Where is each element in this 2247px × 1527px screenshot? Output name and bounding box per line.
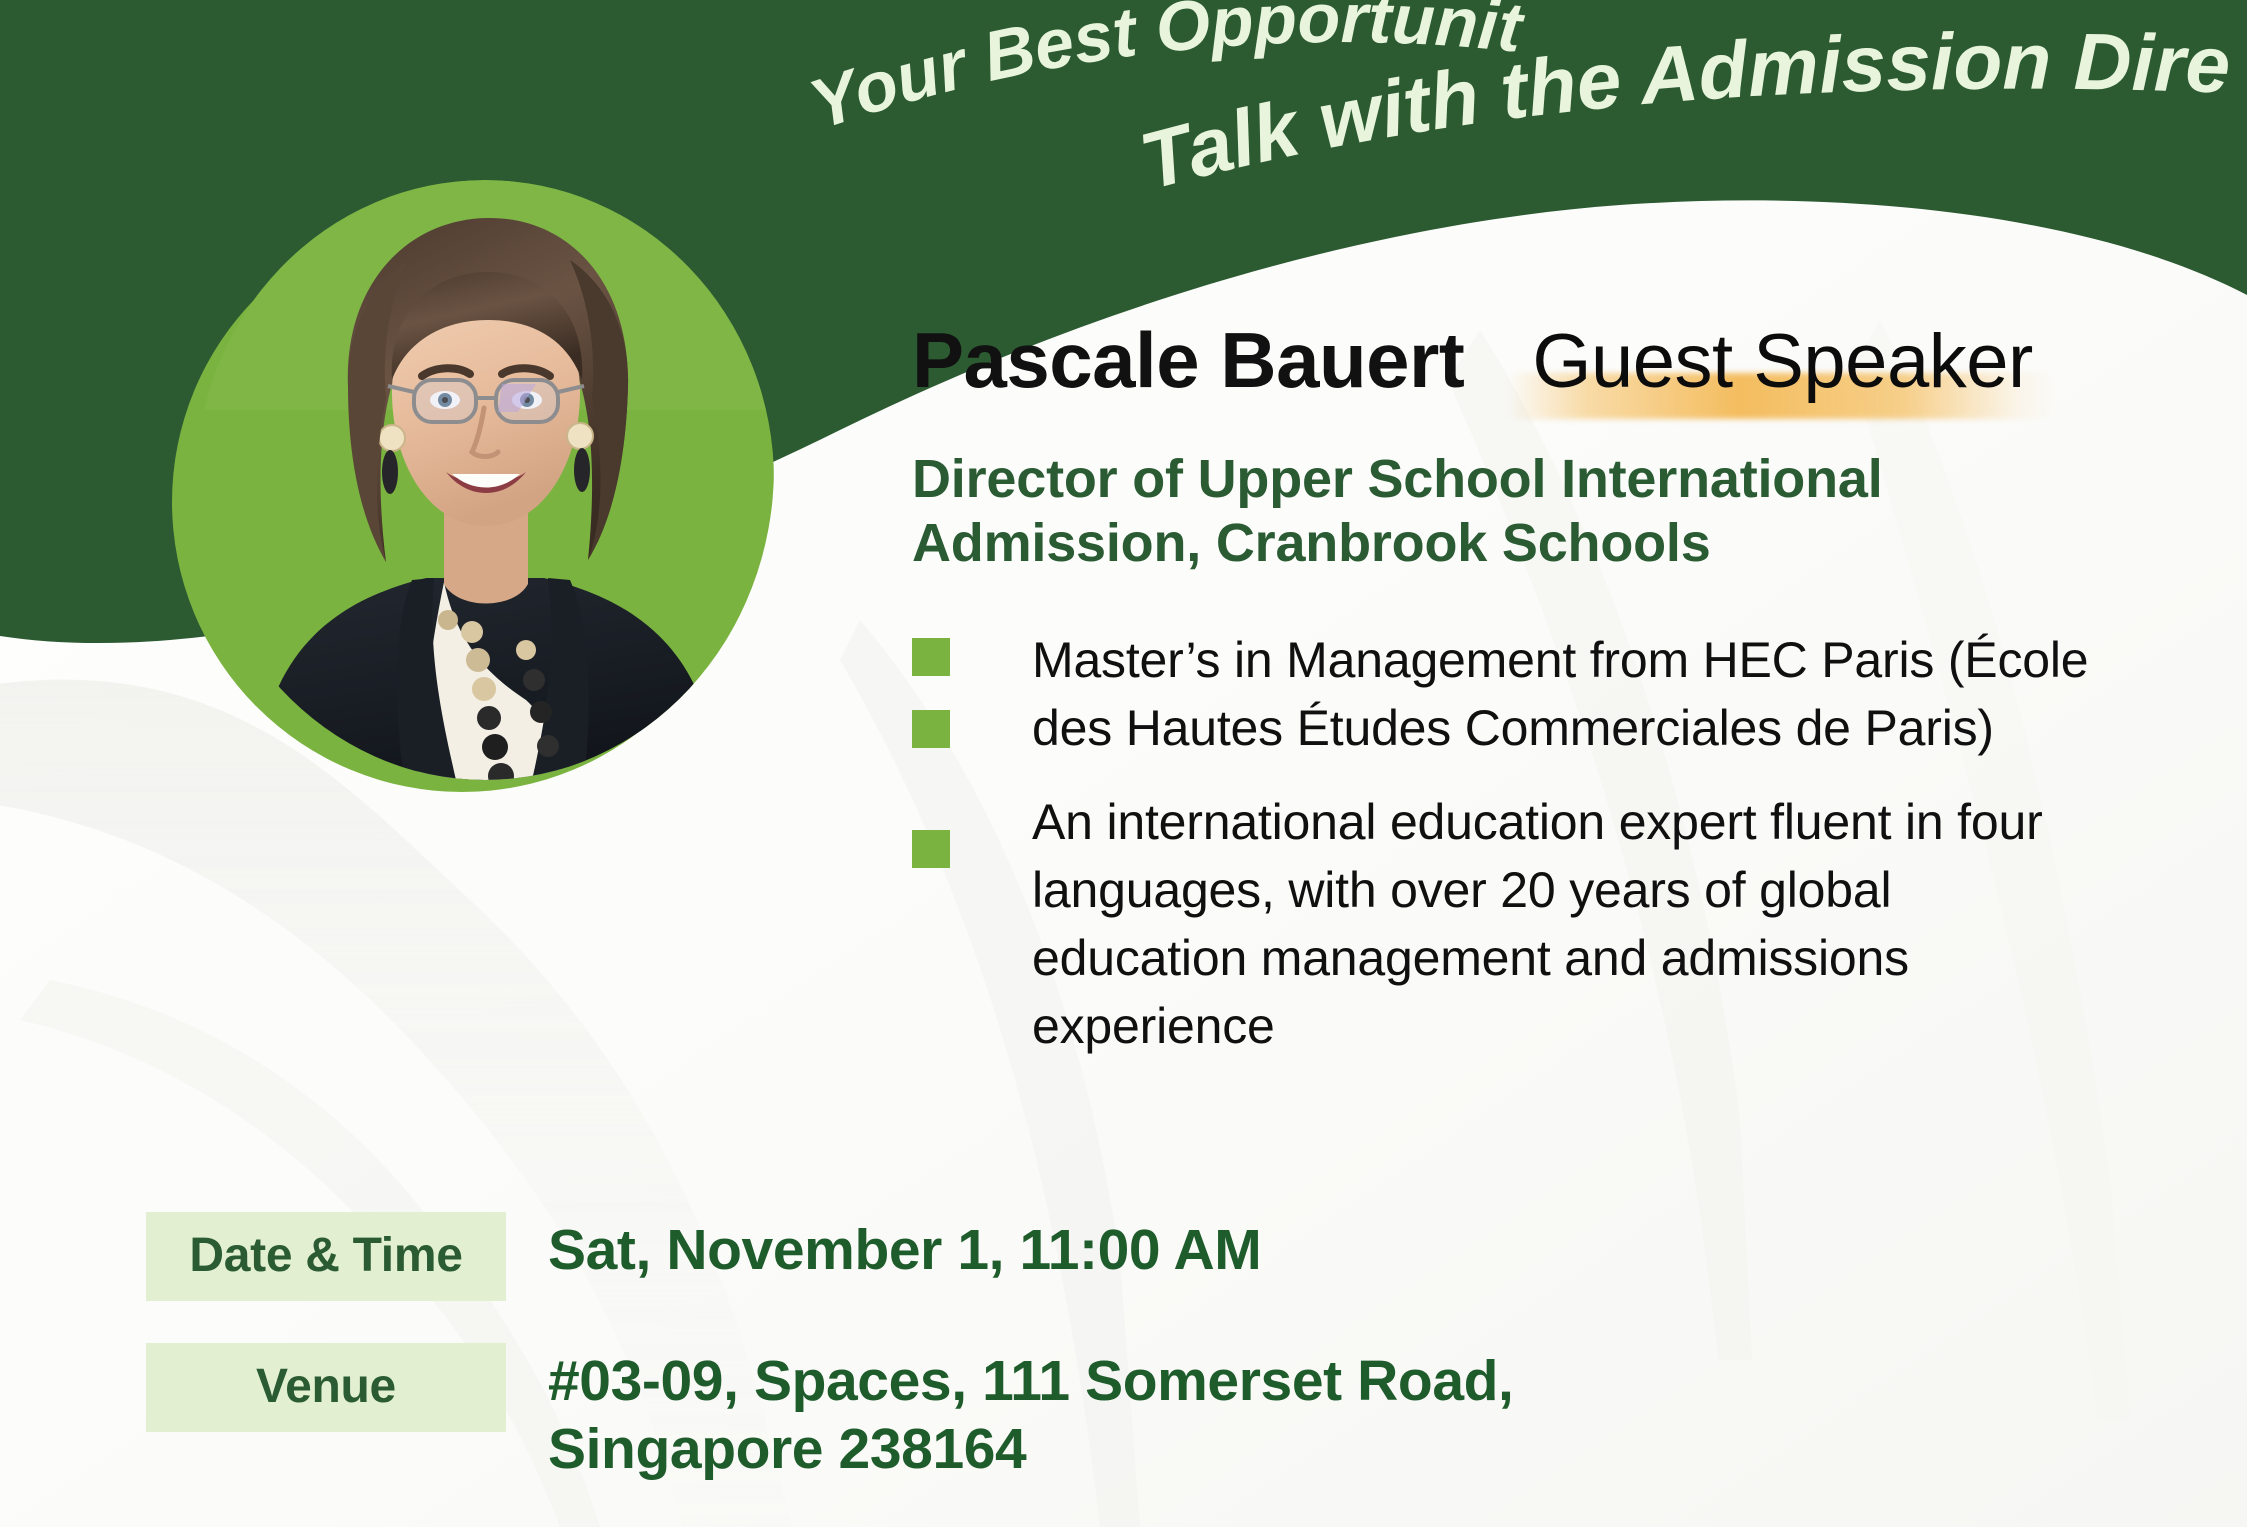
venue-label: Venue (146, 1343, 506, 1432)
detail-row-date-time: Date & Time Sat, November 1, 11:00 AM (146, 1212, 1846, 1301)
event-poster: Your Best Opportunity to Talk with the A… (0, 0, 2247, 1527)
speaker-name: Pascale Bauert (912, 321, 1464, 399)
guest-speaker-label: Guest Speaker (1532, 319, 2032, 404)
speaker-portrait (152, 152, 792, 792)
venue-value: #03-09, Spaces, 111 Somerset Road, Singa… (548, 1343, 1513, 1484)
portrait-photo (196, 180, 774, 780)
event-details: Date & Time Sat, November 1, 11:00 AM Ve… (146, 1212, 1846, 1526)
speaker-credentials: Master’s in Management from HEC Paris (É… (912, 626, 2092, 1060)
credential-item: Master’s in Management from HEC Paris (É… (1032, 626, 2092, 762)
guest-speaker-badge: Guest Speaker (1526, 318, 2038, 405)
bullet-square-icon (912, 638, 950, 676)
bullet-square-icon (912, 710, 950, 748)
bullet-text-block: Master’s in Management from HEC Paris (É… (1032, 626, 2092, 1060)
speaker-job-title: Director of Upper School International A… (912, 447, 2042, 576)
venue-line-2: Singapore 238164 (548, 1415, 1513, 1483)
date-time-label: Date & Time (146, 1212, 506, 1301)
bullet-square-icon (912, 830, 950, 868)
portrait-illustration (196, 180, 774, 780)
speaker-name-row: Pascale Bauert Guest Speaker (912, 318, 2152, 405)
venue-line-1: #03-09, Spaces, 111 Somerset Road, (548, 1349, 1513, 1413)
date-time-value: Sat, November 1, 11:00 AM (548, 1212, 1261, 1284)
speaker-content: Pascale Bauert Guest Speaker Director of… (912, 318, 2152, 1060)
credential-item: An international education expert fluent… (1032, 788, 2092, 1060)
date-time-line-1: Sat, November 1, 11:00 AM (548, 1218, 1261, 1282)
detail-row-venue: Venue #03-09, Spaces, 111 Somerset Road,… (146, 1343, 1846, 1484)
